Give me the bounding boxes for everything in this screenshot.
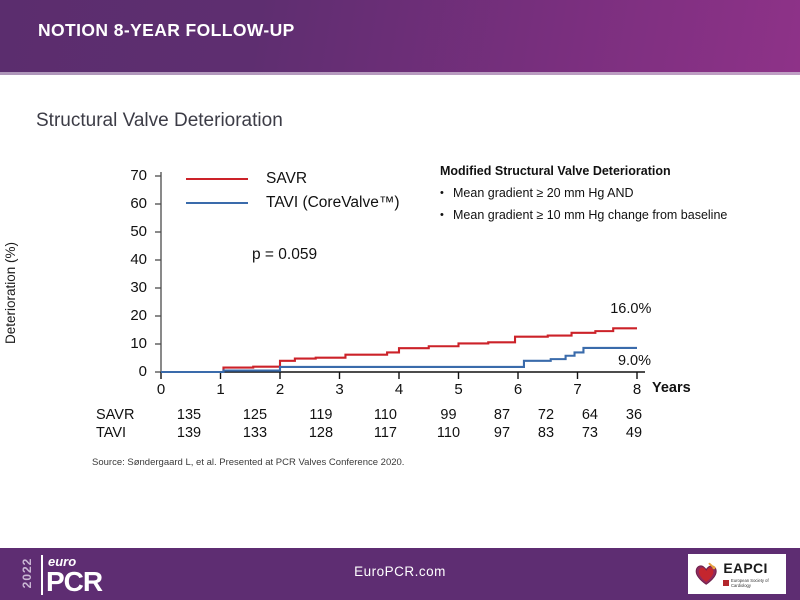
- risk-cell: 110: [354, 406, 417, 424]
- legend-label-tavi: TAVI (CoreValve™): [266, 194, 400, 212]
- risk-cell: 83: [524, 424, 568, 442]
- legend-swatch-savr: [186, 178, 248, 180]
- logo-year: 2022: [20, 551, 34, 595]
- eapci-name: EAPCI: [723, 560, 786, 576]
- numbers-at-risk-table: SAVR1351251191109987726436TAVI1391331281…: [96, 406, 656, 442]
- risk-cell: 99: [417, 406, 480, 424]
- definition-item: • Mean gradient ≥ 10 mm Hg change from b…: [440, 207, 740, 224]
- eapci-text-block: EAPCI European Society of Cardiology: [723, 560, 786, 588]
- y-tick-label: 10: [113, 335, 147, 352]
- x-tick-label: 4: [386, 381, 412, 398]
- risk-cell: 139: [156, 424, 222, 442]
- y-tick-label: 60: [113, 195, 147, 212]
- europcr-logo: 2022 euro PCR: [14, 552, 124, 598]
- definition-block: Modified Structural Valve Deterioration …: [440, 164, 740, 229]
- heart-icon: [694, 561, 718, 587]
- table-row: TAVI13913312811711097837349: [96, 424, 656, 442]
- source-citation: Source: Søndergaard L, et al. Presented …: [92, 457, 404, 468]
- definition-item-text: Mean gradient ≥ 10 mm Hg change from bas…: [453, 207, 727, 224]
- esc-mark-icon: [723, 580, 729, 586]
- chart-legend: SAVR TAVI (CoreValve™): [186, 167, 400, 215]
- x-tick-label: 5: [446, 381, 472, 398]
- risk-cell: 119: [288, 406, 354, 424]
- y-tick-label: 30: [113, 279, 147, 296]
- x-tick-label: 6: [505, 381, 531, 398]
- eapci-logo: EAPCI European Society of Cardiology: [688, 554, 786, 594]
- bullet-icon: •: [440, 185, 453, 202]
- logo-pcr-text: PCR: [46, 566, 102, 598]
- definition-item-text: Mean gradient ≥ 20 mm Hg AND: [453, 185, 634, 202]
- risk-cell: 125: [222, 406, 288, 424]
- x-tick-label: 7: [565, 381, 591, 398]
- risk-cell: 133: [222, 424, 288, 442]
- risk-cell: 87: [480, 406, 524, 424]
- bullet-icon: •: [440, 207, 453, 224]
- legend-row-tavi: TAVI (CoreValve™): [186, 191, 400, 215]
- table-row: SAVR1351251191109987726436: [96, 406, 656, 424]
- y-tick-label: 0: [113, 363, 147, 380]
- eapci-subtitle: European Society of Cardiology: [723, 578, 786, 588]
- x-tick-label: 1: [208, 381, 234, 398]
- x-axis-title: Years: [652, 380, 691, 396]
- chart-plot: [0, 0, 800, 600]
- risk-cell: 110: [417, 424, 480, 442]
- definition-item: • Mean gradient ≥ 20 mm Hg AND: [440, 185, 740, 202]
- y-tick-label: 20: [113, 307, 147, 324]
- x-tick-label: 8: [624, 381, 650, 398]
- logo-divider: [41, 555, 43, 595]
- risk-cell: 128: [288, 424, 354, 442]
- legend-label-savr: SAVR: [266, 170, 307, 188]
- end-label-tavi: 9.0%: [618, 353, 651, 369]
- y-tick-label: 40: [113, 251, 147, 268]
- risk-cell: 49: [612, 424, 656, 442]
- chart-container: Modified Structural Valve Deterioration …: [0, 0, 800, 600]
- x-tick-label: 2: [267, 381, 293, 398]
- risk-cell: 36: [612, 406, 656, 424]
- risk-cell: 97: [480, 424, 524, 442]
- risk-cell: 72: [524, 406, 568, 424]
- risk-cell: 117: [354, 424, 417, 442]
- series-line-savr: [161, 328, 637, 372]
- x-tick-label: 3: [327, 381, 353, 398]
- definition-title: Modified Structural Valve Deterioration: [440, 164, 740, 178]
- risk-cell: 73: [568, 424, 612, 442]
- legend-swatch-tavi: [186, 202, 248, 204]
- y-tick-label: 70: [113, 167, 147, 184]
- risk-row-label: SAVR: [96, 406, 156, 424]
- x-tick-label: 0: [148, 381, 174, 398]
- p-value-annotation: p = 0.059: [252, 246, 317, 264]
- y-tick-label: 50: [113, 223, 147, 240]
- legend-row-savr: SAVR: [186, 167, 400, 191]
- eapci-subtitle-text: European Society of Cardiology: [731, 578, 786, 588]
- risk-cell: 64: [568, 406, 612, 424]
- risk-cell: 135: [156, 406, 222, 424]
- risk-row-label: TAVI: [96, 424, 156, 442]
- end-label-savr: 16.0%: [610, 301, 651, 317]
